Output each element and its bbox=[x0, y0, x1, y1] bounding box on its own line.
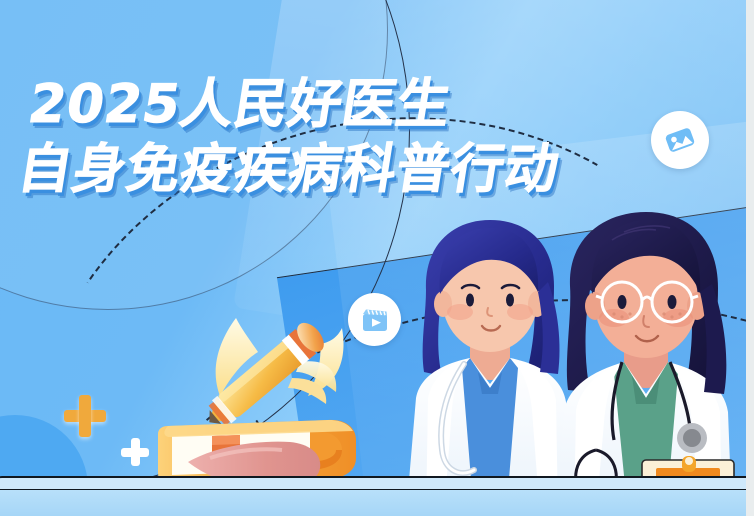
poster-canvas: 2025人民好医生 自身免疫疾病科普行动 bbox=[0, 0, 746, 516]
title-line-2: 自身免疫疾病科普行动 bbox=[15, 143, 563, 196]
title-line-1: 2025人民好医生 bbox=[25, 78, 573, 131]
desk-counter bbox=[0, 472, 746, 516]
right-gutter bbox=[746, 0, 754, 516]
plus-orange bbox=[64, 395, 106, 437]
poster-title: 2025人民好医生 自身免疫疾病科普行动 bbox=[15, 78, 574, 196]
doctors-illustration bbox=[398, 212, 746, 516]
desk-top bbox=[0, 476, 746, 490]
photo-icon-glyph bbox=[663, 123, 697, 157]
video-clapperboard-icon[interactable] bbox=[348, 293, 401, 346]
plus-white bbox=[121, 438, 149, 466]
photo-icon[interactable] bbox=[651, 111, 709, 169]
doctor-right bbox=[556, 212, 734, 516]
desk-front bbox=[0, 489, 746, 516]
video-clapperboard-glyph bbox=[359, 304, 391, 336]
